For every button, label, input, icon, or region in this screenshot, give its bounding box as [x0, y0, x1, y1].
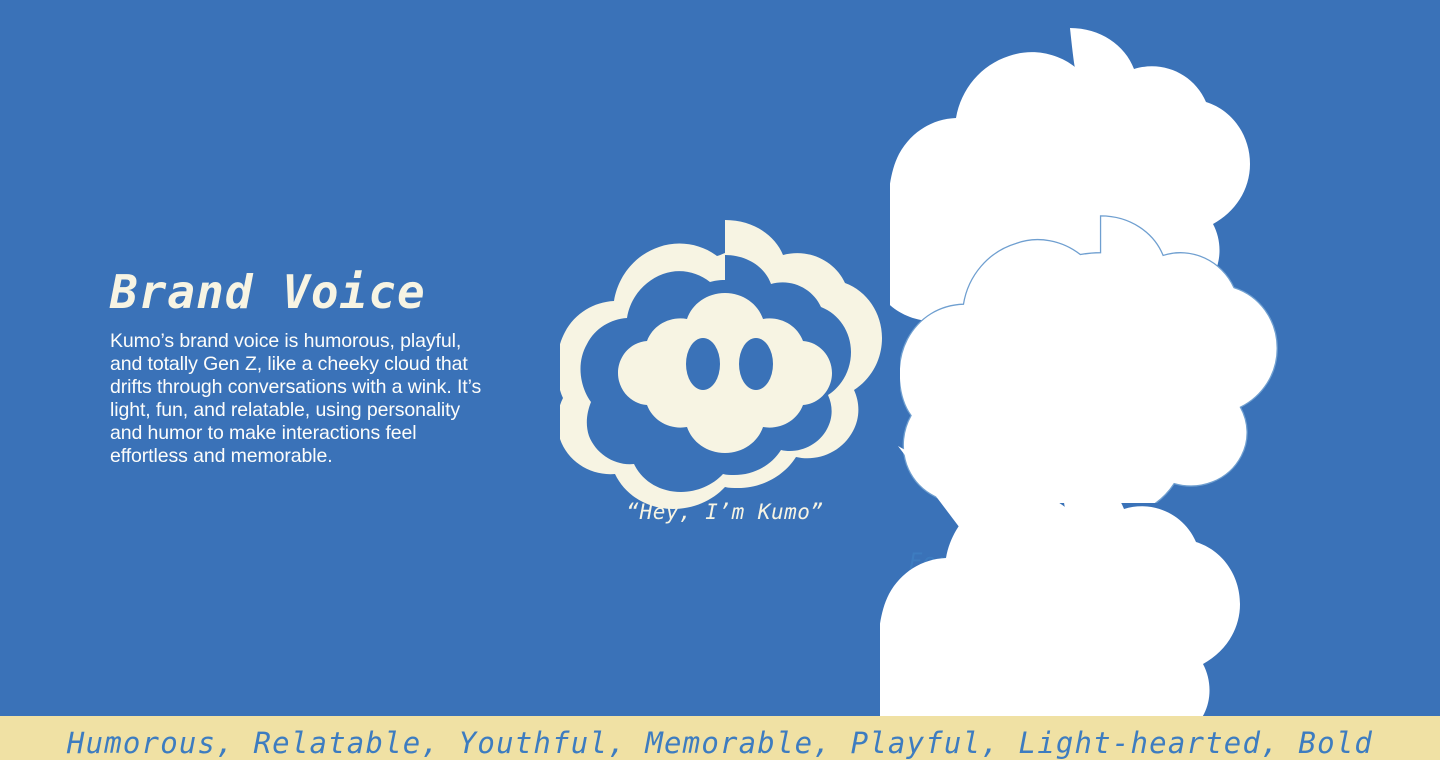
mascot-left-eye — [686, 338, 720, 390]
footer-keywords: Humorous, Relatable, Youthful, Memorable… — [67, 726, 1373, 760]
page-title: Brand Voice — [110, 268, 510, 316]
mascot-right-eye — [739, 338, 773, 390]
speech-bubble-cluster: Caffeine >>> therapy don’t talk to me un… — [880, 18, 1340, 724]
mascot-caption: “Hey, I’m Kumo” — [560, 500, 890, 524]
cloud-mascot-icon — [560, 208, 890, 538]
brand-voice-slide: Brand Voice Kumo’s brand voice is humoro… — [0, 0, 1440, 760]
footer-band: Humorous, Relatable, Youthful, Memorable… — [0, 716, 1440, 760]
speech-bubble-addicts[interactable] — [880, 428, 1240, 728]
copy-block: Brand Voice Kumo’s brand voice is humoro… — [110, 268, 510, 468]
cloud-bubble-shape — [880, 428, 1240, 728]
body-paragraph: Kumo’s brand voice is humorous, playful,… — [110, 330, 492, 468]
kumo-mascot — [560, 208, 890, 538]
